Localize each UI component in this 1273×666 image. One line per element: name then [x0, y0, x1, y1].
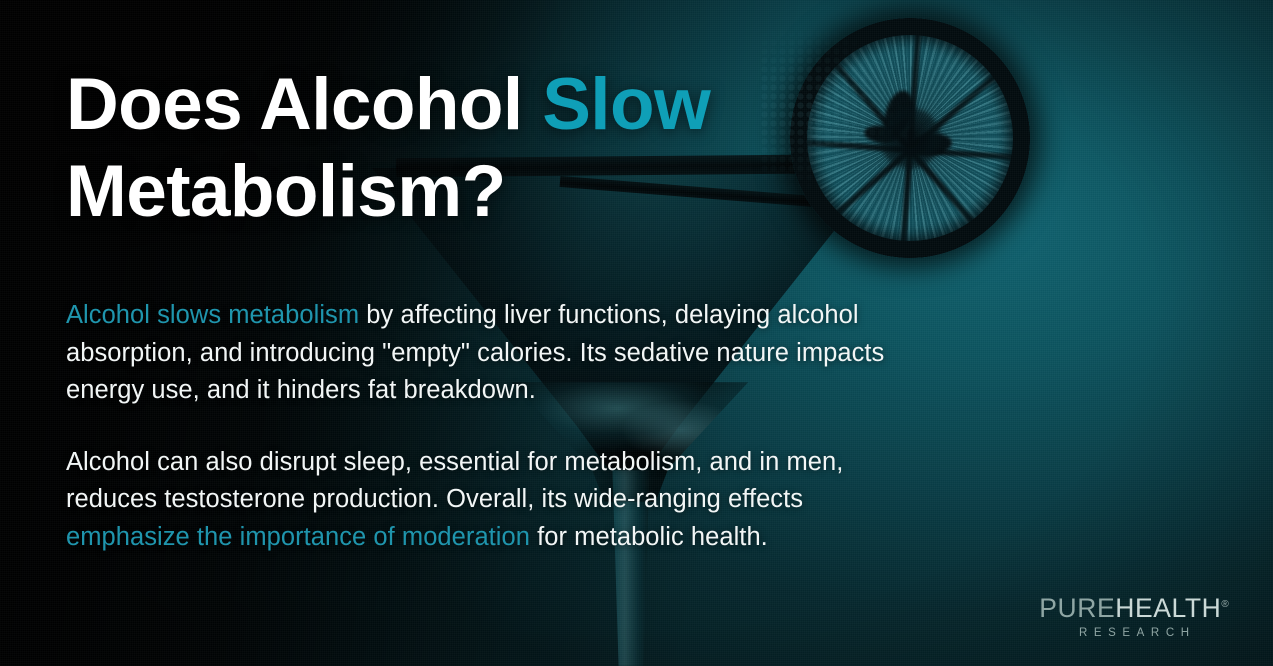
brand-logo-pure: PURE [1039, 593, 1115, 623]
paragraph-2-accent: emphasize the importance of moderation [66, 523, 530, 551]
poster-canvas: Does Alcohol Slow Metabolism? Alcohol sl… [0, 0, 1273, 666]
page-title: Does Alcohol Slow Metabolism? [66, 62, 826, 236]
paragraph-2: Alcohol can also disrupt sleep, essentia… [66, 444, 896, 557]
content-layer: Does Alcohol Slow Metabolism? Alcohol sl… [0, 0, 1273, 666]
page-title-part-2: Metabolism? [66, 151, 506, 232]
page-title-part-1: Does Alcohol [66, 64, 542, 145]
registered-trademark-icon: ® [1221, 599, 1228, 610]
paragraph-2-tail: for metabolic health. [530, 523, 768, 551]
paragraph-2-lead: Alcohol can also disrupt sleep, essentia… [66, 448, 843, 514]
brand-logo-health: HEALTH [1115, 593, 1221, 623]
page-title-accent: Slow [542, 64, 710, 145]
brand-logo-wordmark: PUREHEALTH® [1022, 590, 1246, 623]
brand-logo-subtitle: RESEARCH [1022, 627, 1246, 640]
body-copy: Alcohol slows metabolism by affecting li… [66, 297, 896, 557]
paragraph-1: Alcohol slows metabolism by affecting li… [66, 297, 896, 410]
brand-logo[interactable]: PUREHEALTH® RESEARCH [1022, 590, 1246, 640]
paragraph-1-accent-lead: Alcohol slows metabolism [66, 301, 359, 329]
